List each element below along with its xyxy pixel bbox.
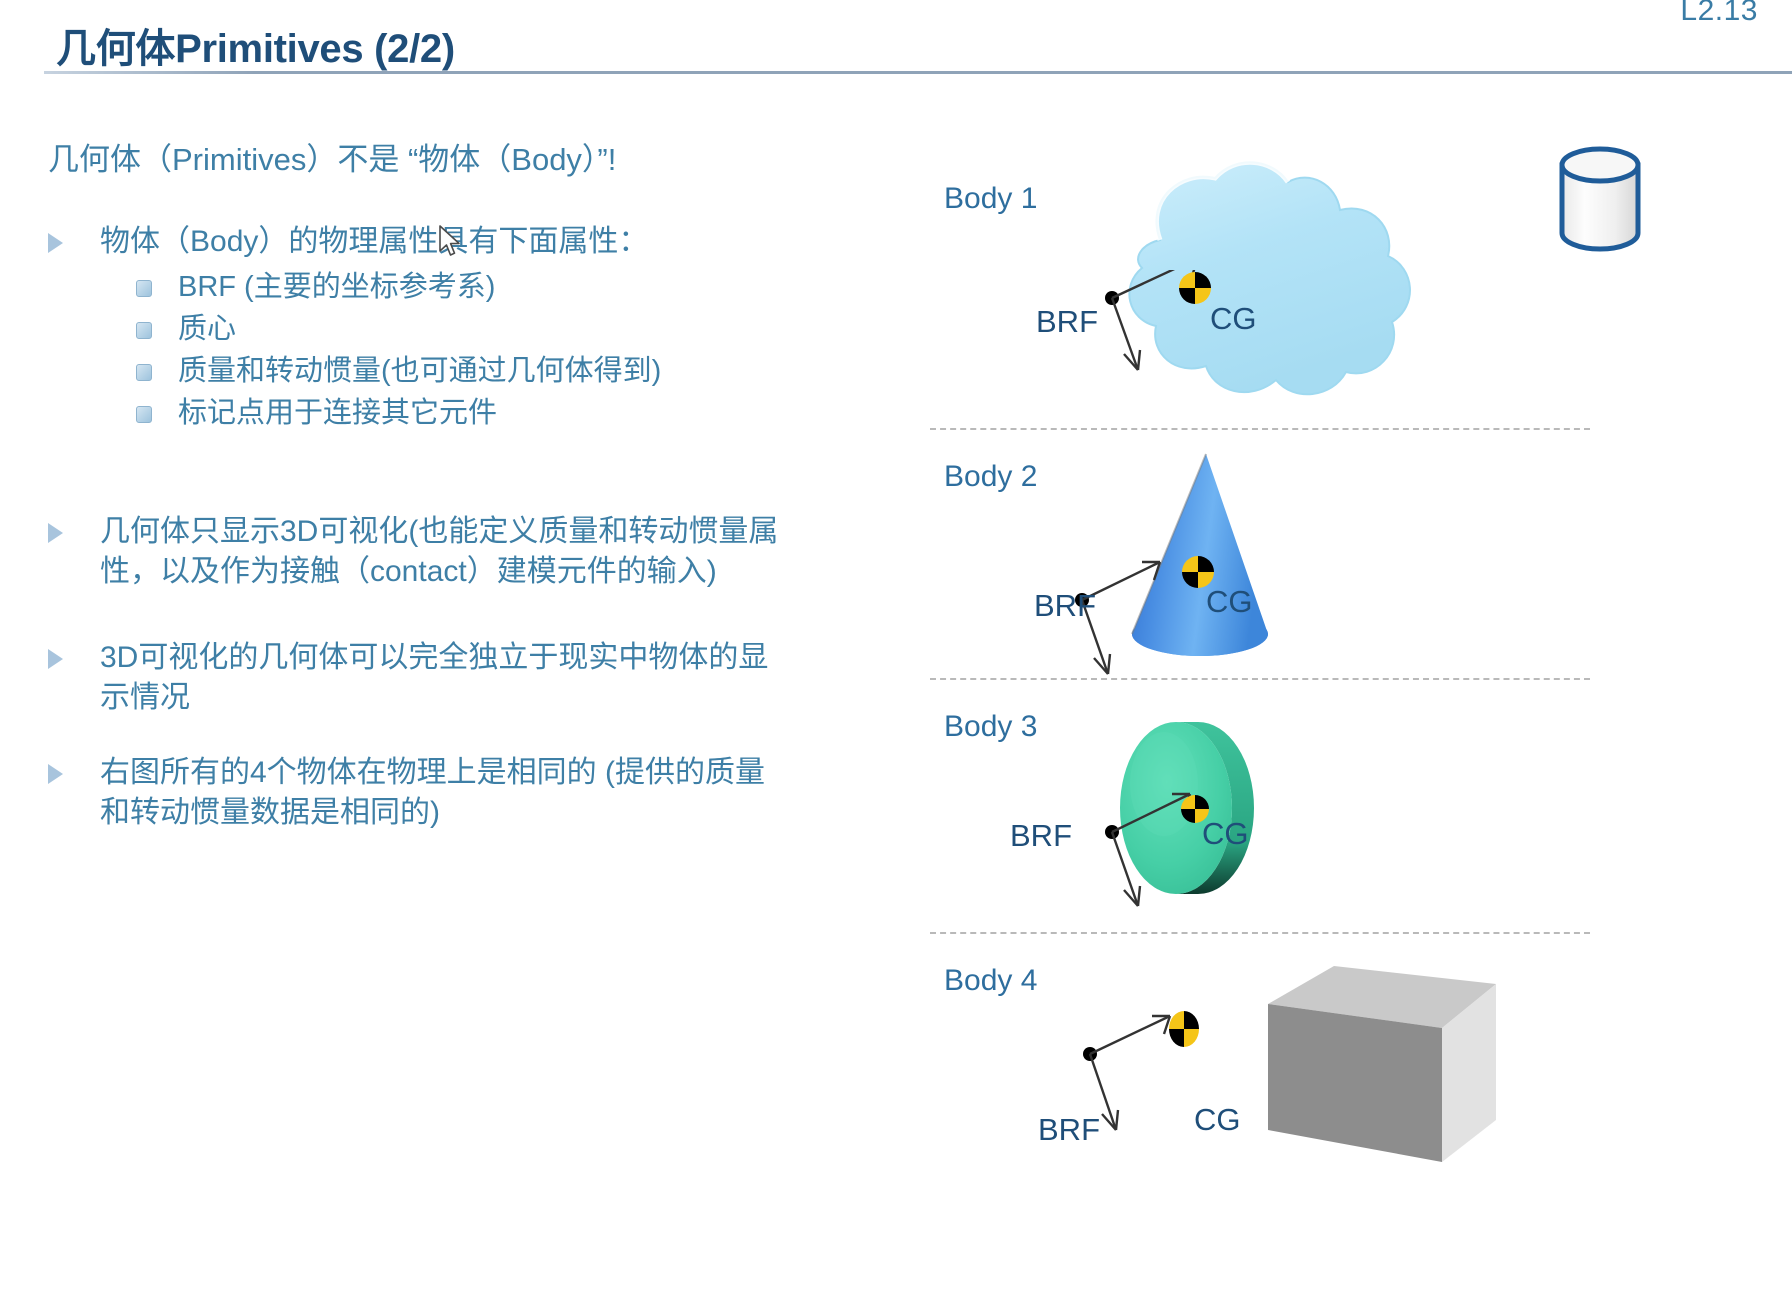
bullet-item-mass-inertia: 质量和转动惯量(也可通过几何体得到) bbox=[136, 353, 896, 391]
body-1-panel: Body 1 BRF bbox=[930, 140, 1792, 430]
square-bullet-icon bbox=[136, 280, 152, 297]
figure-column: Body 1 BRF bbox=[930, 0, 1792, 1302]
bullet-label: 物体（Body）的物理属性具有下面属性： bbox=[100, 222, 848, 262]
body-2-cg-label: CG bbox=[1206, 584, 1253, 620]
mouse-cursor-arrow-icon bbox=[438, 225, 464, 259]
bullet-label: 几何体只显示3D可视化(也能定义质量和转动惯量属性，以及作为接触（contact… bbox=[100, 512, 808, 592]
body-4-label: Body 4 bbox=[944, 964, 1037, 998]
bullet-item-independent-display: 3D可视化的几何体可以完全独立于现实中物体的显示情况 bbox=[48, 638, 778, 718]
bullet-label: 标记点用于连接其它元件 bbox=[178, 395, 896, 433]
triangle-bullet-icon bbox=[48, 233, 63, 253]
body-3-label: Body 3 bbox=[944, 710, 1037, 744]
square-bullet-icon bbox=[136, 322, 152, 339]
body-1-brf-label: BRF bbox=[1036, 304, 1098, 340]
bullet-label: BRF (主要的坐标参考系) bbox=[178, 269, 896, 307]
bullet-item-marker-points: 标记点用于连接其它元件 bbox=[136, 395, 896, 433]
body-1-cg-label: CG bbox=[1210, 301, 1257, 337]
body-3-brf-label: BRF bbox=[1010, 818, 1072, 854]
body-4-cg-label: CG bbox=[1194, 1102, 1241, 1138]
panel-divider-3 bbox=[930, 932, 1590, 934]
triangle-bullet-icon bbox=[48, 649, 63, 669]
cylinder-primitive-icon bbox=[1550, 145, 1660, 265]
body-4-cg-marker-icon bbox=[1168, 1010, 1200, 1048]
body-3-cg-label: CG bbox=[1202, 816, 1249, 852]
cube-primitive-icon bbox=[1260, 962, 1520, 1172]
body-1-brf-axes bbox=[1080, 270, 1400, 430]
bullet-item-four-bodies-identical: 右图所有的4个物体在物理上是相同的 (提供的质量和转动惯量数据是相同的) bbox=[48, 753, 778, 833]
square-bullet-icon bbox=[136, 364, 152, 381]
triangle-bullet-icon bbox=[48, 764, 63, 784]
bullet-item-brf: BRF (主要的坐标参考系) bbox=[136, 269, 896, 307]
lead-statement: 几何体（Primitives）不是 “物体（Body）”! bbox=[48, 134, 616, 179]
page-title: 几何体Primitives (2/2) bbox=[56, 16, 455, 74]
bullet-label: 质量和转动惯量(也可通过几何体得到) bbox=[178, 353, 896, 391]
panel-divider-2 bbox=[930, 678, 1590, 680]
body-1-cg-marker-icon bbox=[1177, 270, 1213, 306]
bullet-label: 质心 bbox=[178, 311, 896, 349]
bullet-item-center-of-mass: 质心 bbox=[136, 311, 896, 349]
body-2-brf-label: BRF bbox=[1034, 588, 1096, 624]
body-4-panel: Body 4 BRF CG bbox=[930, 950, 1792, 1190]
bullet-item-3d-visualization: 几何体只显示3D可视化(也能定义质量和转动惯量属性，以及作为接触（contact… bbox=[48, 512, 808, 592]
body-3-panel: Body 3 bbox=[930, 698, 1792, 928]
square-bullet-icon bbox=[136, 406, 152, 423]
body-4-brf-label: BRF bbox=[1038, 1112, 1100, 1148]
triangle-bullet-icon bbox=[48, 523, 63, 543]
bullet-label: 3D可视化的几何体可以完全独立于现实中物体的显示情况 bbox=[100, 638, 778, 718]
body-2-label: Body 2 bbox=[944, 460, 1037, 494]
body-2-panel: Body 2 bbox=[930, 448, 1792, 678]
panel-divider-1 bbox=[930, 428, 1590, 430]
bullet-label: 右图所有的4个物体在物理上是相同的 (提供的质量和转动惯量数据是相同的) bbox=[100, 753, 778, 833]
